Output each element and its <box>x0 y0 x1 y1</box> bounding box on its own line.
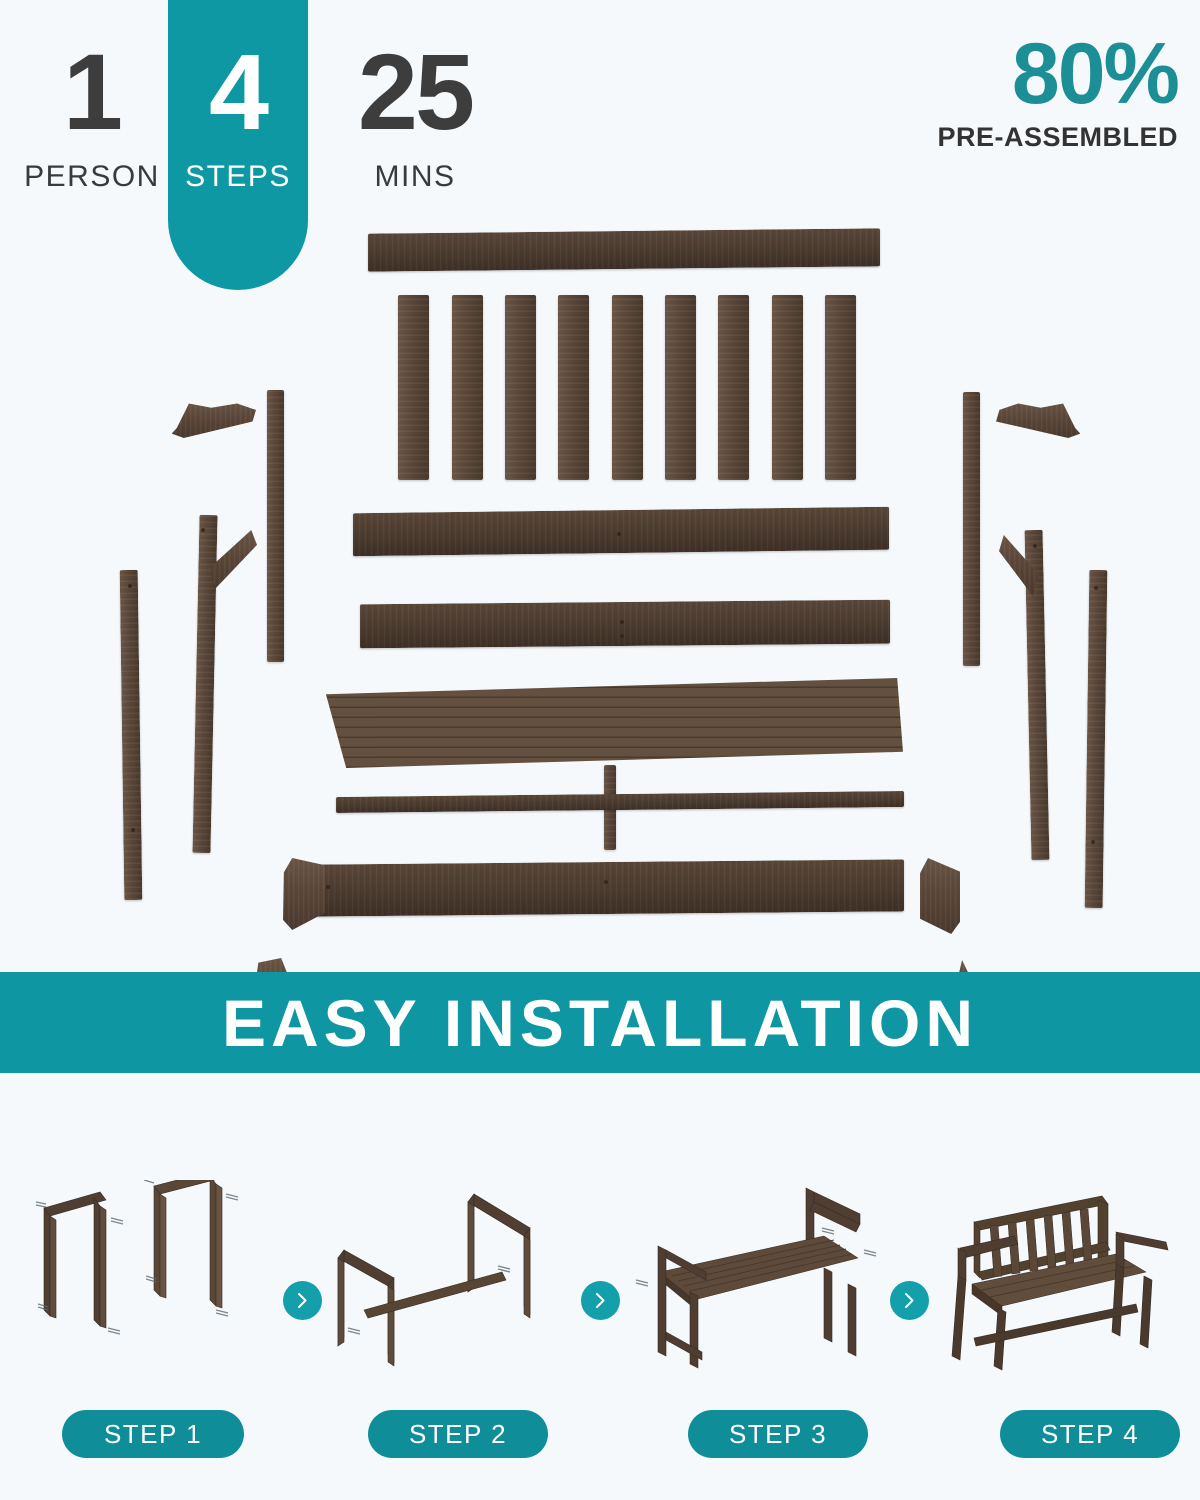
part-right-bracket-upper <box>920 858 960 934</box>
step-arrow-3 <box>890 1281 929 1320</box>
step-3-drawing <box>628 1180 918 1380</box>
screw-hole <box>1094 586 1098 590</box>
part-right-front-leg <box>1085 570 1108 908</box>
part-left-front-leg <box>120 570 143 900</box>
pre-assembled-percent: 80% <box>937 34 1178 116</box>
part-right-rear-leg <box>963 392 980 666</box>
part-back-slat-4 <box>558 295 589 480</box>
part-back-slat-6 <box>665 295 696 480</box>
step-pill-1-label: STEP 1 <box>104 1419 202 1450</box>
part-back-slat-1 <box>398 295 429 480</box>
screw-hole <box>131 828 135 832</box>
stat-mins-number: 25 <box>300 38 530 146</box>
part-seat-stretcher <box>336 791 904 813</box>
stat-mins: 25 MINS <box>300 38 530 194</box>
step-pill-2[interactable]: STEP 2 <box>368 1410 548 1458</box>
stat-person-label: PERSON <box>12 160 172 194</box>
screw-hole <box>201 528 205 532</box>
step-illustration-1 <box>8 1180 298 1380</box>
stat-mins-label: MINS <box>300 160 530 194</box>
step-2-drawing <box>318 1180 608 1380</box>
exploded-parts-diagram <box>0 210 1200 950</box>
part-seat-front-rail <box>360 600 890 649</box>
step-pill-4[interactable]: STEP 4 <box>1000 1410 1180 1458</box>
chevron-right-icon <box>592 1292 609 1309</box>
step-pill-1[interactable]: STEP 1 <box>62 1410 244 1458</box>
stat-steps-number: 4 <box>158 38 318 146</box>
pre-assembled-callout: 80% PRE-ASSEMBLED <box>937 34 1178 153</box>
part-back-bottom-rail <box>353 507 889 557</box>
part-back-slat-5 <box>612 295 643 480</box>
step-arrow-1 <box>283 1281 322 1320</box>
part-back-top-rail <box>368 228 880 271</box>
step-illustration-3 <box>628 1180 918 1380</box>
part-bottom-apron-rail <box>316 859 904 916</box>
screw-hole <box>1033 544 1037 548</box>
step-arrow-2 <box>581 1281 620 1320</box>
part-back-slat-9 <box>825 295 856 480</box>
part-back-slat-8 <box>772 295 803 480</box>
installation-steps-strip: STEP 1 STEP 2 STEP 3 STEP 4 <box>0 1085 1200 1500</box>
step-pill-2-label: STEP 2 <box>409 1419 507 1450</box>
screw-hole <box>1091 840 1095 844</box>
part-left-armrest <box>170 402 256 438</box>
step-1-drawing <box>8 1180 298 1380</box>
screw-hole <box>620 620 624 624</box>
part-left-bracket-upper <box>283 858 325 930</box>
pre-assembled-label: PRE-ASSEMBLED <box>937 122 1178 153</box>
chevron-right-icon <box>901 1292 918 1309</box>
step-pill-4-label: STEP 4 <box>1041 1419 1139 1450</box>
stat-person-number: 1 <box>12 38 172 146</box>
part-back-slat-7 <box>718 295 749 480</box>
stat-person: 1 PERSON <box>12 38 172 194</box>
screw-hole <box>326 885 330 889</box>
screw-hole <box>620 634 624 638</box>
step-pill-3-label: STEP 3 <box>729 1419 827 1450</box>
part-right-armrest <box>996 402 1082 438</box>
step-illustration-4 <box>930 1180 1200 1380</box>
step-pill-3[interactable]: STEP 3 <box>688 1410 868 1458</box>
screw-hole <box>604 880 608 884</box>
step-illustration-2 <box>318 1180 608 1380</box>
step-4-drawing <box>930 1180 1200 1380</box>
easy-installation-banner: EASY INSTALLATION <box>0 972 1200 1073</box>
stat-steps-label: STEPS <box>158 160 318 194</box>
screw-hole <box>128 584 132 588</box>
part-back-slat-2 <box>452 295 483 480</box>
part-left-rear-leg <box>267 390 284 662</box>
part-back-slat-3 <box>505 295 536 480</box>
chevron-right-icon <box>294 1292 311 1309</box>
banner-title: EASY INSTALLATION <box>222 985 978 1061</box>
screw-hole <box>617 532 621 536</box>
part-seat-slab <box>323 678 903 768</box>
stat-steps: 4 STEPS <box>158 38 318 194</box>
